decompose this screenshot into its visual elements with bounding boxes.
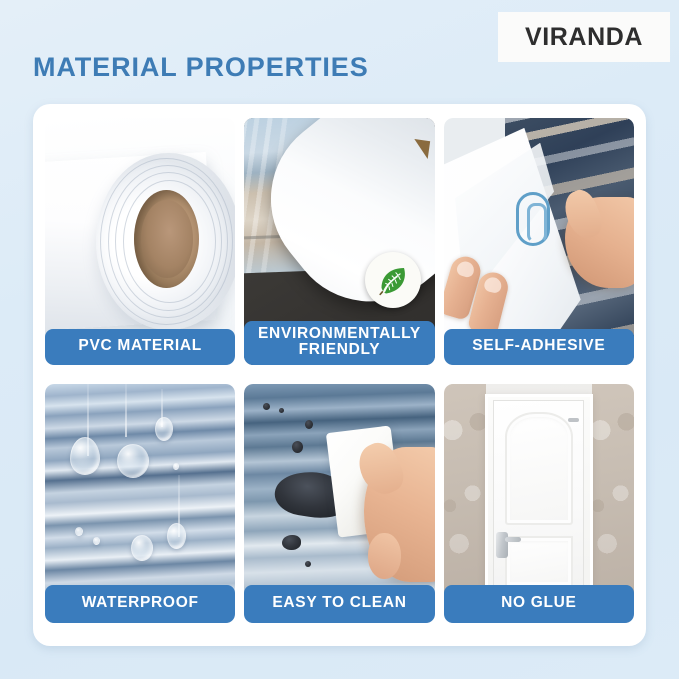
water-droplet: [70, 437, 100, 475]
water-trail: [125, 384, 127, 437]
water-droplet: [155, 417, 173, 441]
card-label-self-adhesive: SELF-ADHESIVE: [444, 329, 634, 365]
stain-spot: [263, 403, 270, 410]
door-panel-top: [505, 412, 573, 525]
stain-spot: [305, 561, 311, 567]
card-label-environmentally-friendly: ENVIRONMENTALLYFRIENDLY: [244, 321, 434, 365]
paperclip-icon: [516, 192, 550, 246]
door-panel-bottom: [505, 536, 573, 586]
water-droplet: [75, 527, 83, 536]
feature-card-no-glue[interactable]: NO GLUE: [444, 384, 634, 623]
card-label-pvc-material: PVC MATERIAL: [45, 329, 235, 365]
card-label-no-glue: NO GLUE: [444, 585, 634, 623]
card-label-easy-to-clean: EASY TO CLEAN: [244, 585, 434, 623]
finger-nail: [455, 259, 475, 278]
stain-spot: [292, 441, 303, 453]
sheet-corner-tip: [412, 139, 430, 159]
pvc-roll-core-inner: [141, 200, 193, 277]
feature-card-pvc-material[interactable]: PVC MATERIAL: [45, 118, 235, 365]
feature-card-easy-to-clean[interactable]: EASY TO CLEAN: [244, 384, 434, 623]
stain-spot: [279, 408, 284, 413]
water-droplet: [167, 523, 186, 549]
door-hinge: [568, 418, 579, 422]
label-line-2: FRIENDLY: [299, 341, 381, 358]
stain-spot: [305, 420, 313, 429]
pvc-roll-image: [45, 118, 235, 365]
right-hand: [364, 441, 434, 594]
brand-name: VIRANDA: [525, 23, 643, 52]
textured-wall-right: [592, 384, 634, 594]
hand-knuckle: [368, 533, 401, 579]
door-leaf: [493, 400, 584, 596]
door-handle: [496, 532, 508, 558]
water-droplet: [117, 444, 149, 478]
eco-badge: [365, 252, 421, 308]
label-line-1: ENVIRONMENTALLY: [258, 325, 421, 342]
self-adhesive-image: [444, 118, 634, 365]
feature-panel: PVC MATERIAL: [33, 104, 646, 646]
feature-grid: PVC MATERIAL: [45, 118, 634, 632]
right-hand: [565, 182, 634, 306]
pvc-roll-core: [134, 190, 199, 289]
card-label-waterproof: WATERPROOF: [45, 585, 235, 623]
stain-spot: [282, 535, 301, 550]
feature-card-environmentally-friendly[interactable]: ENVIRONMENTALLYFRIENDLY: [244, 118, 434, 365]
leaf-icon: [376, 263, 410, 297]
feature-card-self-adhesive[interactable]: SELF-ADHESIVE: [444, 118, 634, 365]
brand-logo-box: VIRANDA: [498, 12, 670, 62]
water-droplet: [131, 535, 153, 561]
page-title: MATERIAL PROPERTIES: [33, 52, 369, 83]
finger-nail: [483, 275, 503, 294]
textured-wall-left: [444, 384, 486, 594]
water-droplet: [173, 463, 179, 470]
water-droplet: [93, 537, 100, 545]
feature-card-waterproof[interactable]: WATERPROOF: [45, 384, 235, 623]
